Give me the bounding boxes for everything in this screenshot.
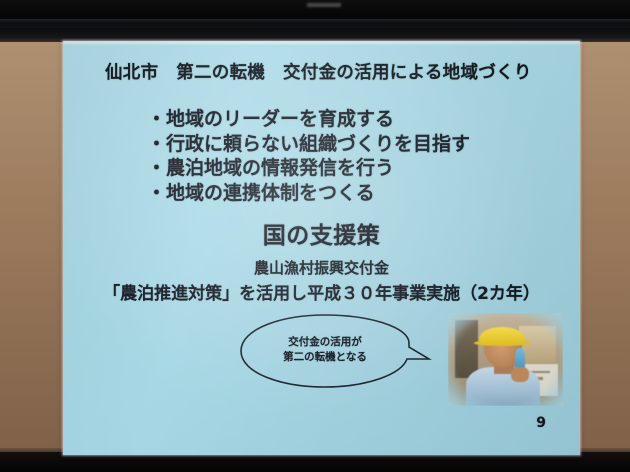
ceiling-light-reflection — [307, 3, 341, 7]
wall-shadow-above-screen — [0, 28, 630, 42]
photo-person-hand — [511, 367, 528, 382]
room-wall-left — [0, 26, 68, 472]
bullet-list: ・地域のリーダーを育成する ・行政に頼らない組織づくりを目指す ・農泊地域の情報… — [147, 107, 547, 205]
speech-balloon: 交付金の活用が 第二の転機となる — [233, 313, 417, 391]
support-measures-heading: 国の支援策 — [63, 216, 580, 250]
projected-slide: 仙北市 第二の転機 交付金の活用による地域づくり ・地域のリーダーを育成する ・… — [63, 41, 580, 455]
balloon-line-2: 第二の転機となる — [233, 350, 417, 365]
balloon-line-1: 交付金の活用が — [233, 335, 417, 350]
balloon-text: 交付金の活用が 第二の転機となる — [233, 335, 417, 365]
floor-band — [0, 452, 630, 472]
list-item: ・農泊地域の情報発信を行う — [147, 156, 547, 181]
list-item: ・地域の連携体制をつくる — [147, 181, 547, 206]
ceiling-band — [0, 0, 630, 30]
projection-room-photograph: 仙北市 第二の転機 交付金の活用による地域づくり ・地域のリーダーを育成する ・… — [0, 0, 630, 472]
room-wall-right — [572, 26, 630, 472]
ceiling-rail — [0, 19, 630, 23]
screen-top-highlight — [63, 41, 580, 44]
list-item: ・行政に頼らない組織づくりを目指す — [147, 132, 547, 157]
slide-page-number: 9 — [536, 415, 546, 431]
photo-doorway — [455, 320, 478, 378]
subsidy-program-name: 農山漁村振興交付金 — [63, 257, 580, 278]
slide-title: 仙北市 第二の転機 交付金の活用による地域づくり — [105, 59, 555, 84]
list-item: ・地域のリーダーを育成する — [147, 107, 547, 132]
slide-embedded-photo — [448, 313, 563, 406]
subsidy-program-detail: 「農泊推進対策」を活用し平成３０年事業実施（2カ年） — [63, 279, 580, 304]
